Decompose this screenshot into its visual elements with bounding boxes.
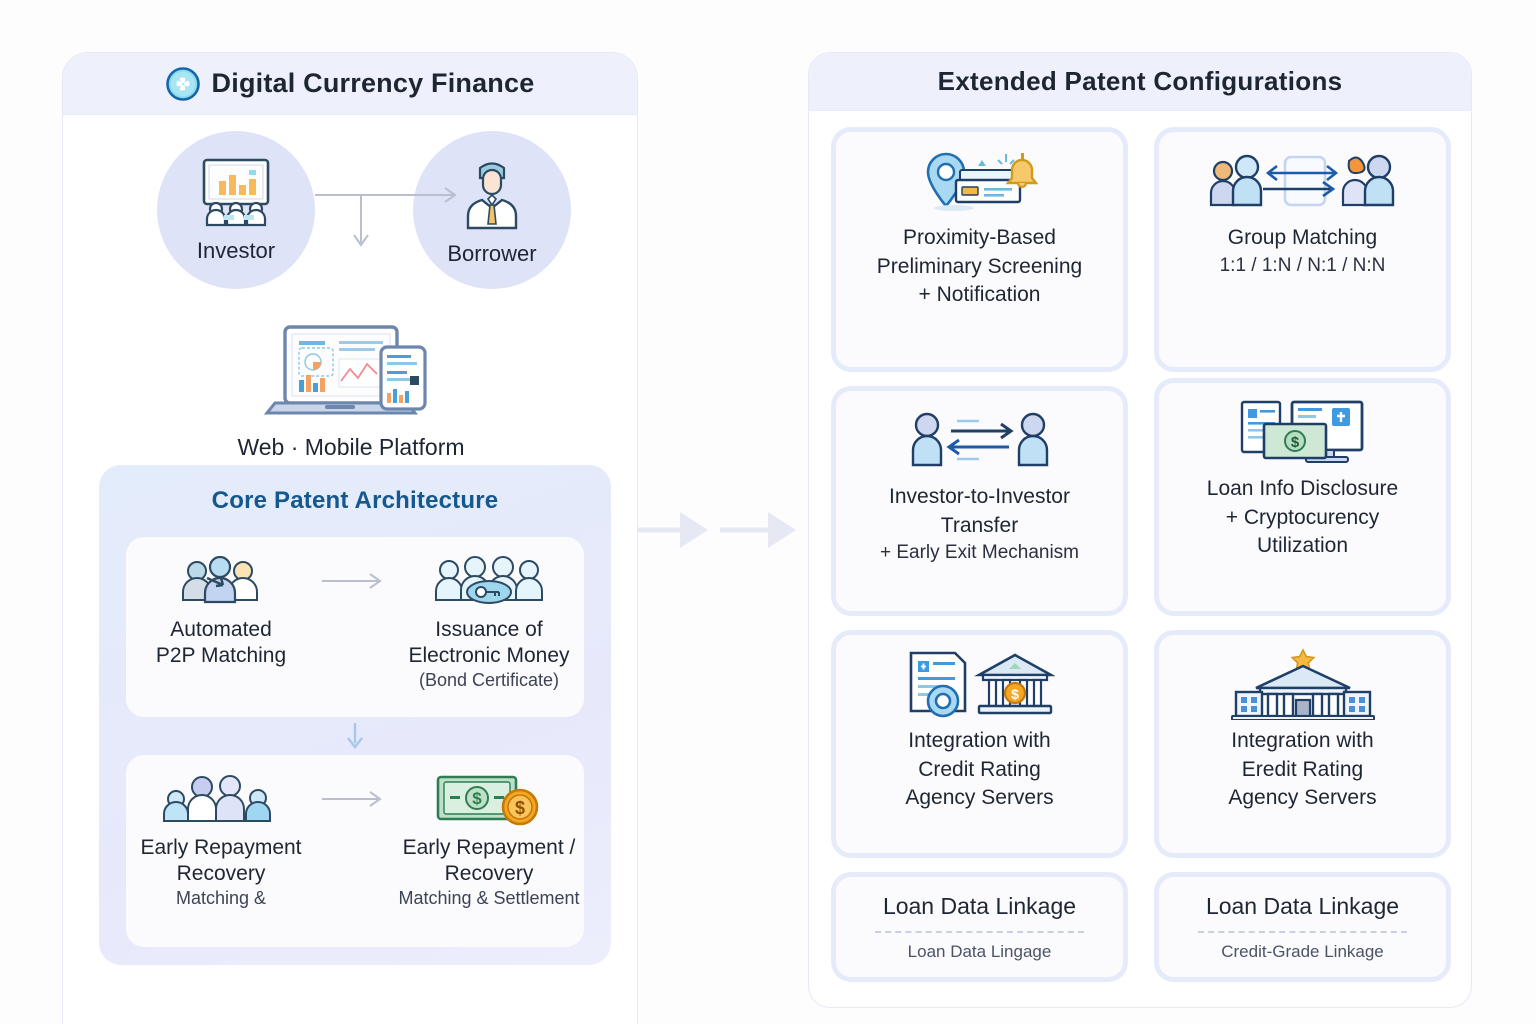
- extended-patent-configurations-panel: Extended Patent Configurations: [808, 52, 1472, 1008]
- page-title: Digital Currency Finance: [212, 68, 535, 99]
- actors-row: Investor Borrower: [63, 115, 638, 315]
- location-pin-card-bell-icon: [918, 146, 1042, 216]
- core-card1-right-sub: (Bond Certificate): [394, 670, 584, 692]
- core-card1-right: Issuance ofElectronic Money (Bond Certif…: [394, 553, 584, 692]
- core-card2-left: Early RepaymentRecovery Matching &: [126, 771, 316, 910]
- card-line: Loan Data Linkage: [1206, 891, 1399, 922]
- dashed-divider: [1198, 931, 1406, 933]
- card-loan-info-disclosure[interactable]: $ Loan Info Disclosure + Cryptocurency U…: [1154, 378, 1451, 616]
- extended-cards-grid: Proximity-Based Preliminary Screening + …: [809, 111, 1472, 1008]
- card-line: Transfer: [941, 512, 1018, 541]
- card-sub: + Early Exit Mechanism: [880, 540, 1079, 566]
- core-architecture-title: Core Patent Architecture: [99, 465, 611, 515]
- card-line: Loan Info Disclosure: [1207, 475, 1398, 504]
- right-panel-header: Extended Patent Configurations: [809, 53, 1471, 111]
- actor-connector-arrows: [63, 115, 638, 315]
- card-line: + Notification: [919, 281, 1041, 310]
- document-bank-icon: $: [905, 649, 1055, 719]
- card-sub: Loan Data Lingage: [908, 940, 1052, 963]
- card-proximity-screening[interactable]: Proximity-Based Preliminary Screening + …: [831, 127, 1128, 372]
- core-card2-right-title: Early Repayment /Recovery: [394, 835, 584, 886]
- card-sub: Credit-Grade Linkage: [1221, 940, 1384, 963]
- core-patent-architecture-block: Core Patent Architecture: [99, 465, 611, 965]
- left-panel-header: Digital Currency Finance: [63, 53, 637, 115]
- card-loan-data-linkage-left[interactable]: Loan Data Linkage Loan Data Lingage: [831, 872, 1128, 982]
- group-exchange-icon: [1203, 146, 1403, 216]
- card-line: Utilization: [1257, 532, 1348, 561]
- card-line: Eredit Rating: [1242, 756, 1363, 785]
- platform-label: Web · Mobile Platform: [63, 434, 638, 461]
- laptop-mobile-icon: [261, 412, 441, 429]
- core-card2-right-sub: Matching & Settlement: [394, 888, 584, 910]
- core-card-matching-issuance[interactable]: AutomatedP2P Matching: [126, 537, 584, 717]
- card-sub: 1:1 / 1:N / N:1 / N:N: [1220, 253, 1386, 279]
- arrow-right-icon: [316, 553, 394, 609]
- svg-text:$: $: [472, 789, 482, 808]
- card-line: Integration with: [1231, 727, 1373, 756]
- card-line: Investor-to-Investor: [889, 483, 1070, 512]
- card-line: Integration with: [908, 727, 1050, 756]
- core-card2-left-sub: Matching &: [126, 888, 316, 910]
- svg-text:$: $: [1290, 434, 1299, 451]
- core-card2-right: $ $ Early Repayment /Recovery Matching &…: [394, 771, 584, 910]
- digital-currency-finance-panel: Digital Currency Finance: [62, 52, 638, 1024]
- card-loan-data-linkage-right[interactable]: Loan Data Linkage Credit-Grade Linkage: [1154, 872, 1451, 982]
- people-key-icon: [394, 553, 584, 609]
- card-investor-to-investor-transfer[interactable]: Investor-to-Investor Transfer + Early Ex…: [831, 386, 1128, 616]
- svg-text:$: $: [515, 798, 525, 818]
- card-line: Preliminary Screening: [877, 253, 1082, 282]
- two-person-exchange-icon: [905, 405, 1055, 475]
- core-card-down-arrow: [332, 721, 378, 755]
- core-card2-left-title: Early RepaymentRecovery: [126, 835, 316, 886]
- svg-text:$: $: [1011, 686, 1019, 702]
- card-line: Proximity-Based: [903, 224, 1056, 253]
- core-card1-left: AutomatedP2P Matching: [126, 553, 316, 668]
- card-line: Agency Servers: [1228, 784, 1376, 813]
- monitor-document-money-icon: $: [1238, 397, 1368, 467]
- card-group-matching[interactable]: Group Matching 1:1 / 1:N / N:1 / N:N: [1154, 127, 1451, 372]
- card-line: Credit Rating: [918, 756, 1041, 785]
- card-eredit-rating-integration[interactable]: Integration with Eredit Rating Agency Se…: [1154, 630, 1451, 858]
- card-line: + Cryptocurency: [1226, 504, 1379, 533]
- card-line: Group Matching: [1228, 224, 1377, 253]
- diagram-canvas: Digital Currency Finance: [0, 0, 1536, 1024]
- people-matching-icon: [126, 553, 316, 609]
- government-building-star-icon: [1228, 649, 1378, 719]
- card-line: Agency Servers: [905, 784, 1053, 813]
- core-card-early-repayment[interactable]: Early RepaymentRecovery Matching &: [126, 755, 584, 947]
- card-line: Loan Data Linkage: [883, 891, 1076, 922]
- banknote-coin-icon: $ $: [394, 771, 584, 827]
- dashed-divider: [875, 931, 1083, 933]
- core-card1-right-title: Issuance ofElectronic Money: [394, 617, 584, 668]
- double-arrow-right-icon: [636, 500, 812, 560]
- flower-badge-icon: [166, 67, 200, 101]
- arrow-right-icon-2: [316, 771, 394, 827]
- card-credit-rating-integration[interactable]: $ Integration with Credit Rating Agency …: [831, 630, 1128, 858]
- people-group-icon: [126, 771, 316, 827]
- right-panel-title: Extended Patent Configurations: [938, 66, 1343, 97]
- core-card1-left-title: AutomatedP2P Matching: [126, 617, 316, 668]
